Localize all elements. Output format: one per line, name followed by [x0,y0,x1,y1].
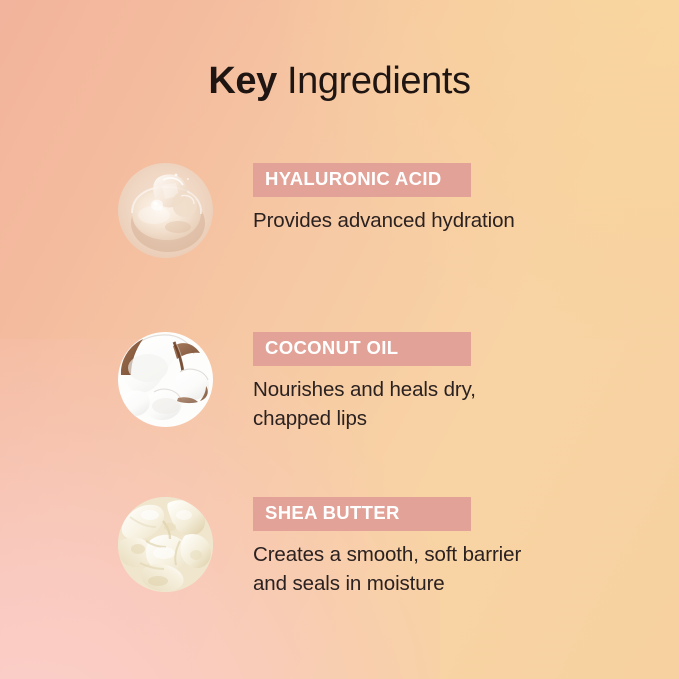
shea-butter-chunks-photo [118,497,213,592]
ingredient-name-tag: SHEA BUTTER [253,497,471,531]
ingredient-text-column: COCONUT OIL Nourishes and heals dry, cha… [253,332,653,434]
ingredient-thumbnail-wrap [118,163,213,258]
ingredient-description: Creates a smooth, soft barrier and seals… [253,540,583,599]
ingredient-text-column: SHEA BUTTER Creates a smooth, soft barri… [253,497,653,599]
ingredient-name-tag: COCONUT OIL [253,332,471,366]
ingredient-thumbnail-wrap [118,497,213,592]
ingredient-description: Provides advanced hydration [253,206,583,236]
hyaluronic-acid-serum-drop-photo [118,163,213,258]
ingredient-name-tag: HYALURONIC ACID [253,163,471,197]
page-title-strong: Key [208,60,277,102]
key-ingredients-infographic: Key Ingredients [0,0,679,679]
ingredient-text-column: HYALURONIC ACID Provides advanced hydrat… [253,163,653,235]
coconut-pieces-photo [118,332,213,427]
page-title-light: Ingredients [277,60,471,102]
ingredient-description: Nourishes and heals dry, chapped lips [253,375,583,434]
ingredient-thumbnail-wrap [118,332,213,427]
page-title: Key Ingredients [0,60,679,103]
